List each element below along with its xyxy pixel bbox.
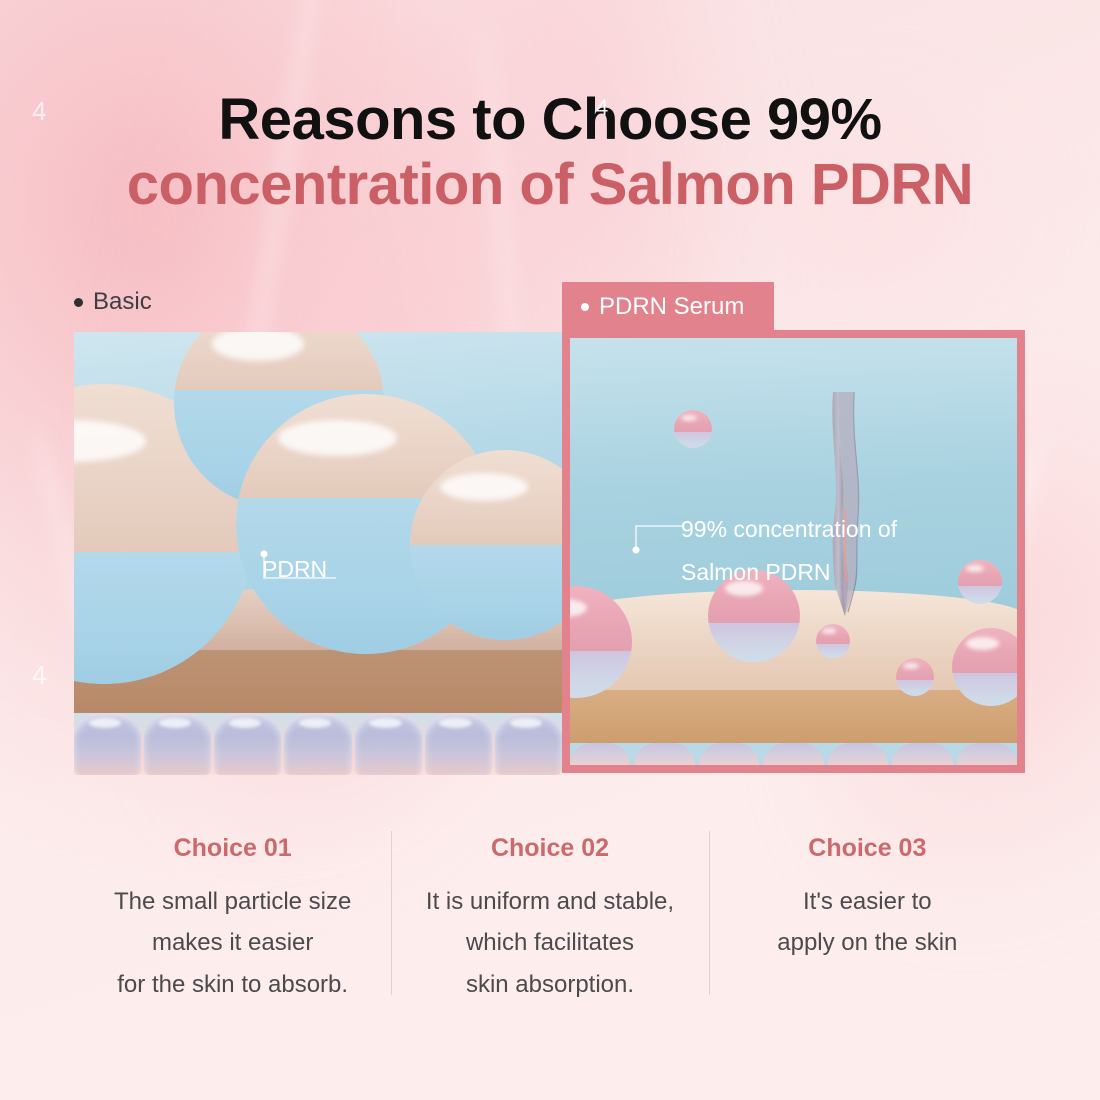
image-panel-basic [74, 332, 562, 775]
skin-cell [957, 743, 1017, 765]
choice-line: makes it easier [114, 922, 351, 963]
choice-description: It's easier to apply on the skin [777, 881, 957, 964]
watermark-number: 4 [32, 96, 46, 127]
skin-cell [144, 713, 211, 775]
serum-micro-particle [570, 586, 632, 698]
choice-description: It is uniform and stable, which facilita… [426, 881, 674, 1005]
watermark-number: 4 [32, 660, 46, 691]
choice-title: Choice 01 [174, 834, 292, 863]
title-line-1: Reasons to Choose 99% [0, 88, 1100, 153]
choice-line: for the skin to absorb. [114, 964, 351, 1005]
title-line-2: concentration of Salmon PDRN [0, 153, 1100, 218]
watermark-number: 4 [596, 95, 608, 121]
page-title: Reasons to Choose 99% concentration of S… [0, 88, 1100, 218]
choices-section: Choice 01 The small particle size makes … [74, 828, 1026, 1008]
serum-callout-line-2: Salmon PDRN [681, 551, 897, 594]
skin-cell [634, 743, 694, 765]
skin-cell [495, 713, 562, 775]
serum-micro-particle [896, 658, 934, 696]
basic-cell-row [74, 713, 562, 775]
skin-cell [214, 713, 281, 775]
tab-pdrn-serum-label: PDRN Serum [599, 293, 744, 321]
skin-cell [74, 713, 141, 775]
serum-micro-particle [952, 628, 1017, 706]
skin-cell [892, 743, 952, 765]
skin-cell [828, 743, 888, 765]
skin-cell [570, 743, 630, 765]
bullet-dot-icon [581, 303, 589, 311]
tab-pdrn-serum[interactable]: PDRN Serum [562, 282, 774, 331]
skin-cell [763, 743, 823, 765]
panel-label-basic: Basic [74, 288, 152, 316]
choice-title: Choice 03 [808, 834, 926, 863]
choice-title: Choice 02 [491, 834, 609, 863]
skin-cell [425, 713, 492, 775]
serum-cell-row [570, 743, 1017, 765]
serum-callout-line-1: 99% concentration of [681, 508, 897, 551]
choice-item: Choice 01 The small particle size makes … [74, 828, 391, 1008]
panel-label-basic-text: Basic [93, 288, 152, 316]
serum-micro-particle [816, 624, 850, 658]
skin-cell [284, 713, 351, 775]
choice-line: apply on the skin [777, 922, 957, 963]
choice-line: skin absorption. [426, 964, 674, 1005]
basic-large-particle [410, 450, 562, 640]
choice-item: Choice 02 It is uniform and stable, whic… [391, 828, 708, 1008]
choice-item: Choice 03 It's easier to apply on the sk… [709, 828, 1026, 1008]
serum-callout-label: 99% concentration of Salmon PDRN [681, 508, 897, 593]
skin-cell [355, 713, 422, 775]
basic-callout-label: PDRN [262, 556, 327, 583]
choice-line: The small particle size [114, 881, 351, 922]
bullet-dot-icon [74, 298, 83, 307]
serum-micro-particle [958, 560, 1002, 604]
choice-line: It is uniform and stable, [426, 881, 674, 922]
choice-line: which facilitates [426, 922, 674, 963]
skin-cell [699, 743, 759, 765]
choice-description: The small particle size makes it easier … [114, 881, 351, 1005]
choice-line: It's easier to [777, 881, 957, 922]
serum-micro-particle [674, 410, 712, 448]
